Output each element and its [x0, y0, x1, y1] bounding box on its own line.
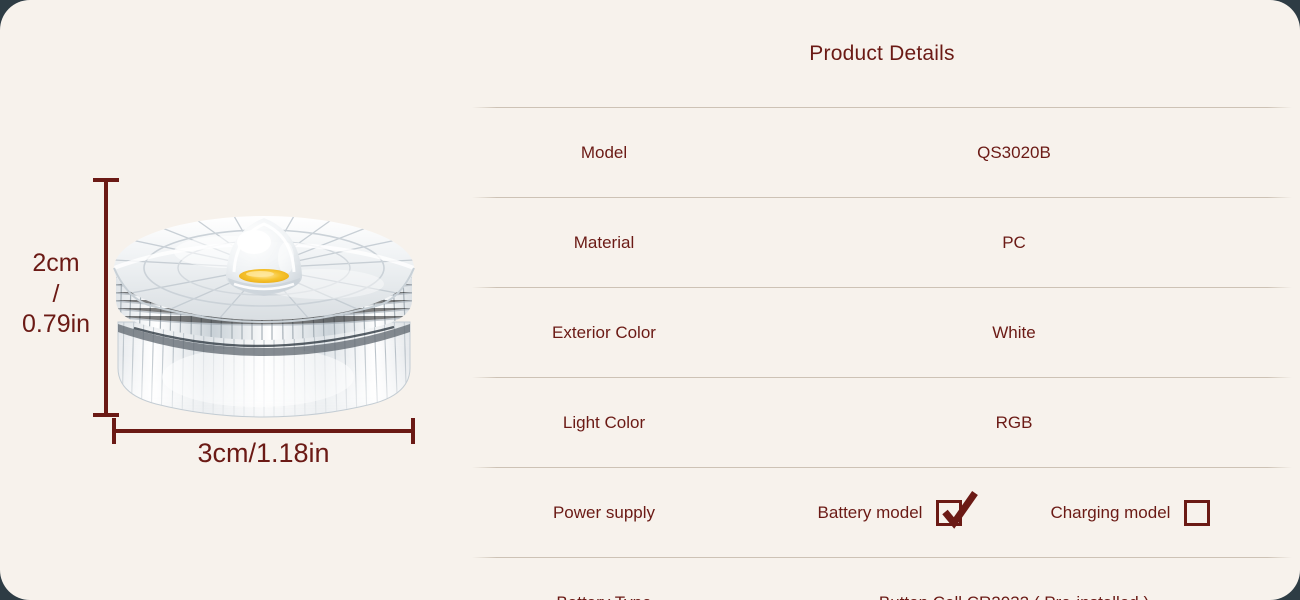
table-row: Model QS3020B	[472, 130, 1292, 175]
spec-label: Material	[472, 220, 736, 265]
row-divider	[472, 287, 1292, 288]
checkbox-charging-model-unchecked[interactable]	[1184, 500, 1210, 526]
table-row: Light Color RGB	[472, 400, 1292, 445]
product-details-panel: Product Details Model QS3020B Material P…	[472, 0, 1292, 600]
table-row: Material PC	[472, 220, 1292, 265]
power-option-charging[interactable]: Charging model	[1050, 500, 1210, 526]
power-option-battery-label: Battery model	[818, 503, 923, 523]
table-row: Power supply Battery model	[472, 490, 1292, 535]
details-title: Product Details	[472, 0, 1292, 66]
row-divider	[472, 467, 1292, 468]
divider-row	[472, 265, 1292, 310]
table-row: Battery Type Button Cell CR2032 ( Pre-in…	[472, 580, 1292, 600]
checkbox-battery-model-checked[interactable]	[936, 500, 962, 526]
width-dimension-label: 3cm/1.18in	[112, 438, 415, 469]
product-detail-page: 2cm / 0.79in 3cm/1.18in Product Details …	[0, 0, 1300, 600]
spec-label: Model	[472, 130, 736, 175]
checkmark-icon	[935, 490, 979, 530]
row-divider	[472, 557, 1292, 558]
height-dimension-line	[104, 180, 108, 415]
spec-value: PC	[736, 220, 1292, 265]
spec-value: QS3020B	[736, 130, 1292, 175]
spec-value: Battery model Charging model	[736, 490, 1292, 535]
product-photo	[108, 172, 420, 422]
divider-row	[472, 85, 1292, 130]
height-dimension-label: 2cm / 0.79in	[10, 248, 102, 340]
spec-label: Light Color	[472, 400, 736, 445]
power-option-charging-label: Charging model	[1050, 503, 1170, 523]
spec-value: White	[736, 310, 1292, 355]
spec-label: Battery Type	[472, 580, 736, 600]
divider-row	[472, 445, 1292, 490]
width-dimension-line	[112, 429, 415, 433]
divider-row	[472, 535, 1292, 580]
table-row: Exterior Color White	[472, 310, 1292, 355]
row-divider	[472, 197, 1292, 198]
spec-label: Exterior Color	[472, 310, 736, 355]
divider-row	[472, 355, 1292, 400]
product-image-panel: 2cm / 0.79in 3cm/1.18in	[0, 0, 460, 600]
spec-label: Power supply	[472, 490, 736, 535]
spec-value: Button Cell CR2032 ( Pre-installed )	[736, 580, 1292, 600]
spec-value: RGB	[736, 400, 1292, 445]
divider-row	[472, 175, 1292, 220]
power-option-battery[interactable]: Battery model	[818, 500, 963, 526]
spec-table: Model QS3020B Material PC Exterior Color	[472, 85, 1292, 600]
row-divider	[472, 107, 1292, 108]
row-divider	[472, 377, 1292, 378]
